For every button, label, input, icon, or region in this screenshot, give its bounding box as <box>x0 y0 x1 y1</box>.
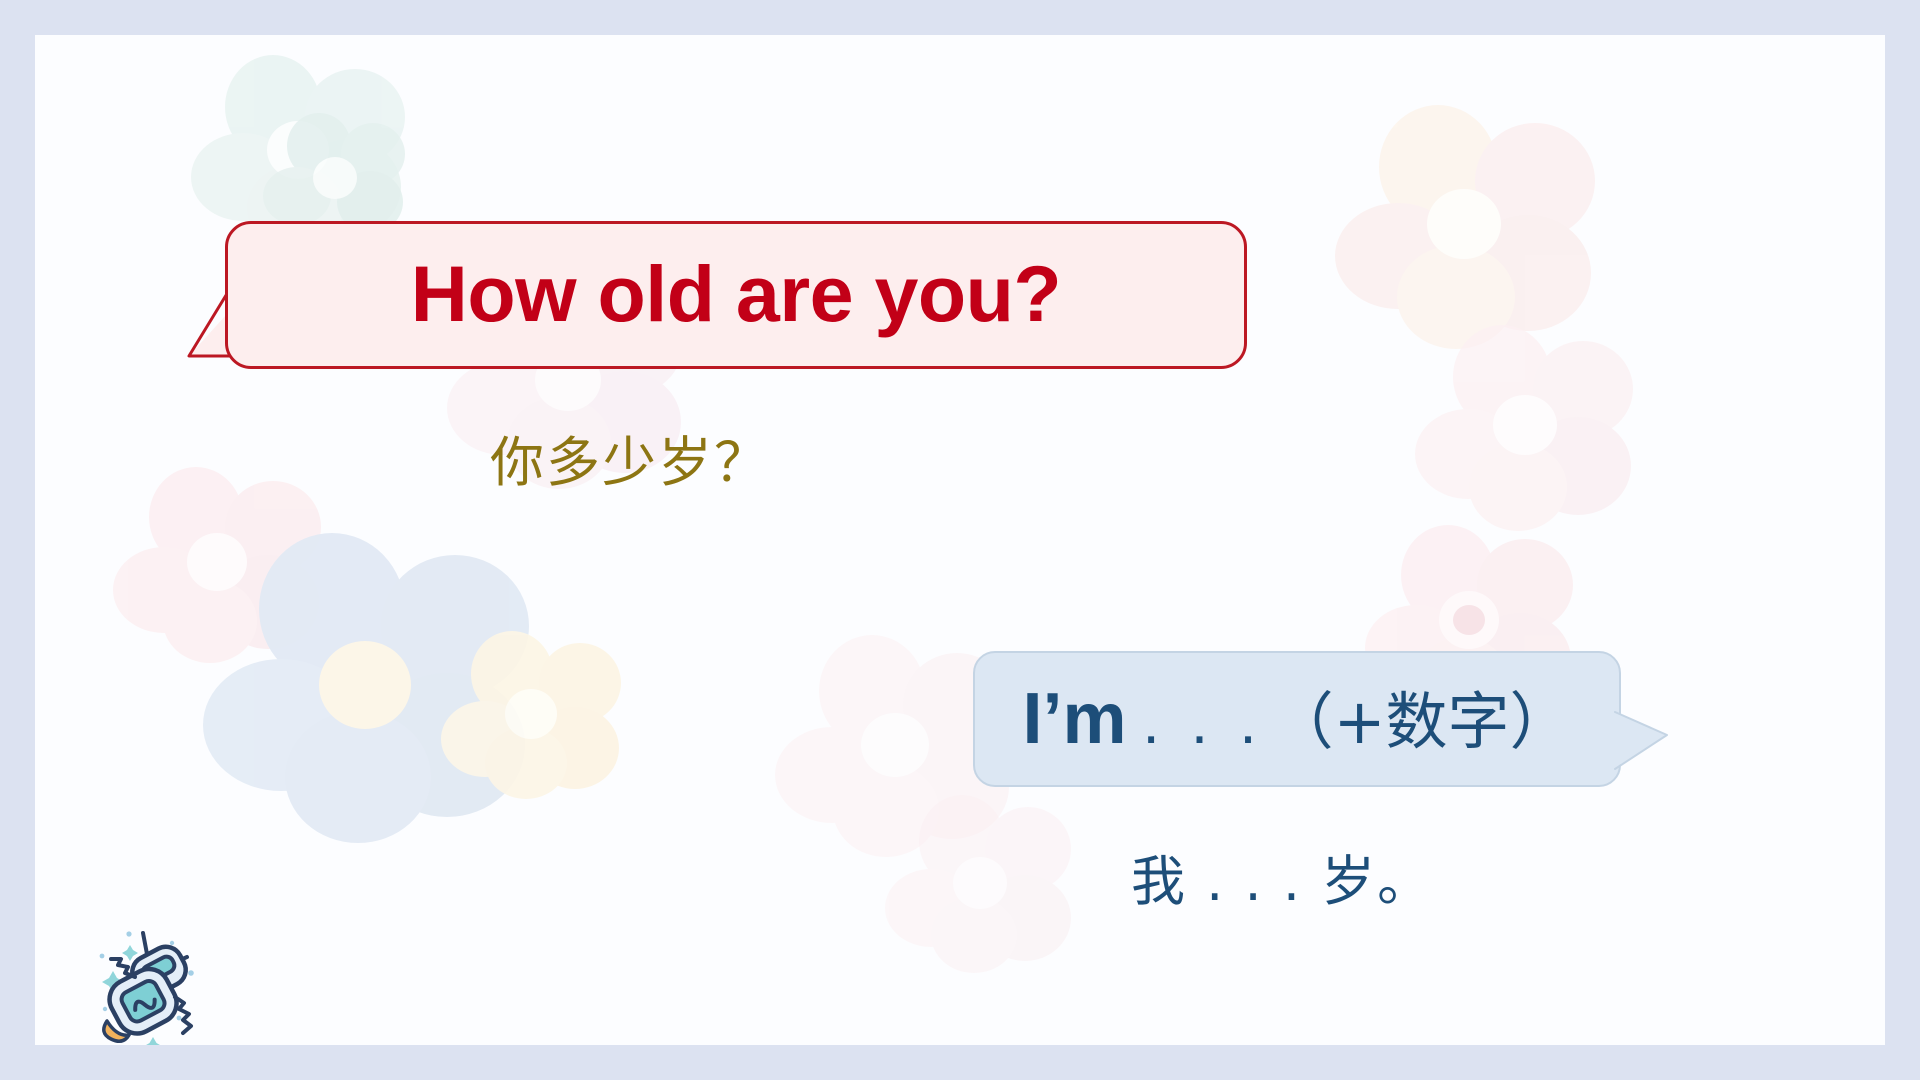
answer-bubble-tail <box>1613 711 1671 773</box>
answer-speech-bubble: I’m . . . （+数字） <box>973 651 1621 787</box>
flower-pink-right <box>1415 325 1645 535</box>
answer-translation-text: 我 . . . 岁。 <box>1131 837 1433 916</box>
robot-mascot-icon <box>83 923 223 1045</box>
answer-text-paren: （+数字） <box>1272 671 1572 761</box>
answer-text-strong: I’m <box>1022 678 1126 760</box>
flower-pink-lower-center <box>885 795 1085 975</box>
answer-text-group: I’m . . . （+数字） <box>1022 671 1571 761</box>
question-speech-bubble: How old are you? <box>225 221 1247 369</box>
question-text: How old are you? <box>411 254 1061 333</box>
flower-pink-mid-left <box>113 467 333 667</box>
slide-canvas: How old are you? 你多少岁？ I’m . . . （+数字） 我… <box>35 35 1885 1045</box>
question-translation-text: 你多少岁？ <box>490 418 770 497</box>
answer-text-dots: . . . <box>1142 687 1263 758</box>
flower-cream-center-left <box>441 631 631 803</box>
flower-peach-top-right <box>1335 105 1615 355</box>
flower-blue-left <box>203 533 543 853</box>
